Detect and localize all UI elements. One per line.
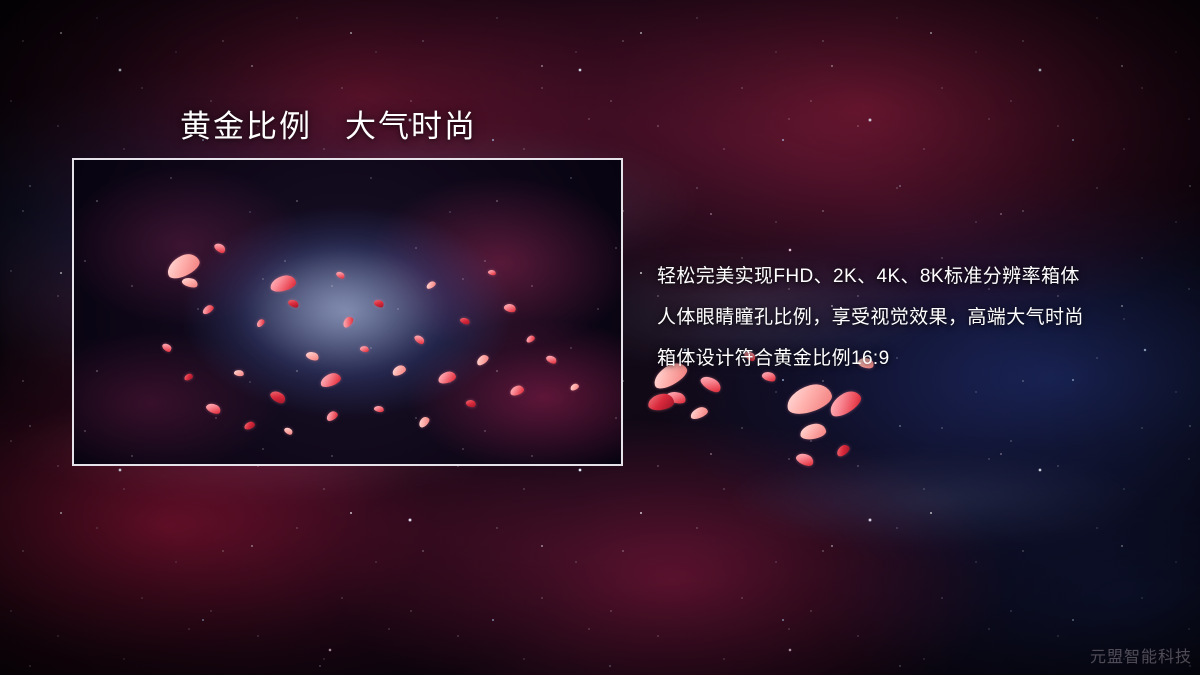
body-copy-line: 轻松完美实现FHD、2K、4K、8K标准分辨率箱体: [657, 256, 1187, 297]
watermark: 元盟智能科技: [1090, 643, 1192, 667]
body-copy-line: 人体眼睛瞳孔比例，享受视觉效果，高端大气时尚: [657, 297, 1187, 338]
body-copy: 轻松完美实现FHD、2K、4K、8K标准分辨率箱体 人体眼睛瞳孔比例，享受视觉效…: [657, 256, 1187, 379]
preview-starfield: [74, 160, 621, 464]
preview-frame: [72, 158, 623, 466]
page-title: 黄金比例 大气时尚: [180, 101, 477, 146]
body-copy-line: 箱体设计符合黄金比例16:9: [657, 338, 1187, 379]
presentation-slide: 黄金比例 大气时尚 轻松完美实现FHD、2K、4K、8K标准分辨率箱体 人体眼睛…: [0, 0, 1200, 675]
